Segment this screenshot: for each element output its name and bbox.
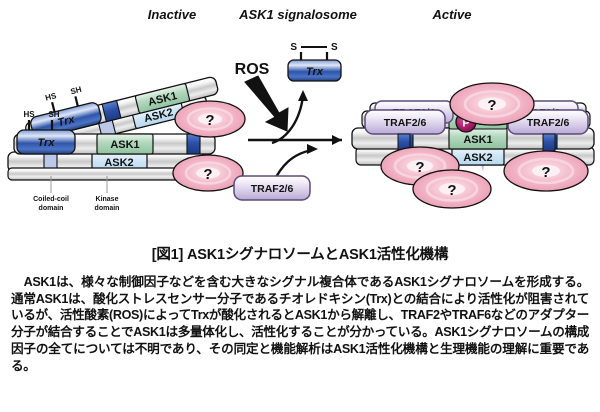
disulfide-s-right: S [331,42,338,53]
caption-paragraph: ASK1は、様々な制御因子などを含む大きなシグナル複合体であるASK1シグナロソ… [11,274,589,374]
kinase-label-line1: Kinase [96,196,119,203]
ask2-rod-lower-edge [8,168,194,180]
ask2-label: ASK2 [463,152,492,164]
figure-title: [図1] ASK1シグナロソームとASK1活性化機構 [0,243,600,264]
caption-body: ASK1は、様々な制御因子などを含む大きなシグナル複合体であるASK1シグナロソ… [11,274,589,374]
traf-label: TRAF2/6 [527,117,570,129]
unknown-label: ? [203,166,212,183]
figure-panel: Inactive ASK1 signalosome Active ASK2 AS… [0,0,600,238]
kinase-label-line2: domain [95,205,120,212]
coiled-coil-label-line1: Coiled-coil [33,196,69,203]
active-unknown-top: ? [450,83,534,125]
free-traf-box: TRAF2/6 [234,176,310,200]
unknown-label: ? [487,97,496,114]
thiol-sh-label: SH [70,85,83,96]
trx-bound: Trx [17,130,75,154]
coiled-coil-segment [543,134,555,151]
reaction-middle: ROS Trx S [234,42,342,200]
traf-label: TRAF2/6 [384,117,427,129]
active-traf-front-left: TRAF2/6 [365,110,445,134]
unknown-label: ? [415,159,424,176]
thiol-sh-label: SH [48,110,59,119]
heading-active: Active [431,7,471,22]
active-unknown-bottom: ? [413,170,491,208]
active-complex: ASK2 ASK1 ASK1 P P TRAF2/6 [352,83,594,208]
inactive-unknown-2: ? [173,155,243,191]
reaction-arrow-main [248,135,342,145]
disulfide-sticks [301,47,327,60]
thiol-hs-label: HS [23,110,35,119]
thiol-hs-label: HS [44,91,58,103]
unknown-label: ? [205,112,214,129]
ros-arrow [245,76,288,131]
heading-signalosome: ASK1 signalosome [238,7,357,22]
unknown-label: ? [447,182,456,199]
inactive-unknown-1: ? [175,101,245,137]
ask2-label: ASK2 [104,157,133,169]
trx-label: Trx [38,137,56,149]
active-unknown-right: ? [504,151,588,191]
disulfide-s-left: S [290,42,297,53]
ask1-label: ASK1 [463,134,492,146]
oxidized-trx: Trx S S [288,42,341,81]
trx-label: Trx [306,66,324,78]
coiled-coil-label-line2: domain [39,205,64,212]
inactive-complex: ASK2 ASK1 Trx HS SH [8,53,245,212]
coiled-coil-segment [187,134,200,154]
ask1-label: ASK1 [110,139,139,151]
heading-inactive: Inactive [148,7,196,22]
caption-block: [図1] ASK1シグナロソームとASK1活性化機構 ASK1は、様々な制御因子… [0,243,600,374]
unknown-label: ? [541,164,550,181]
traf-label: TRAF2/6 [251,183,294,195]
ros-label: ROS [235,61,270,78]
